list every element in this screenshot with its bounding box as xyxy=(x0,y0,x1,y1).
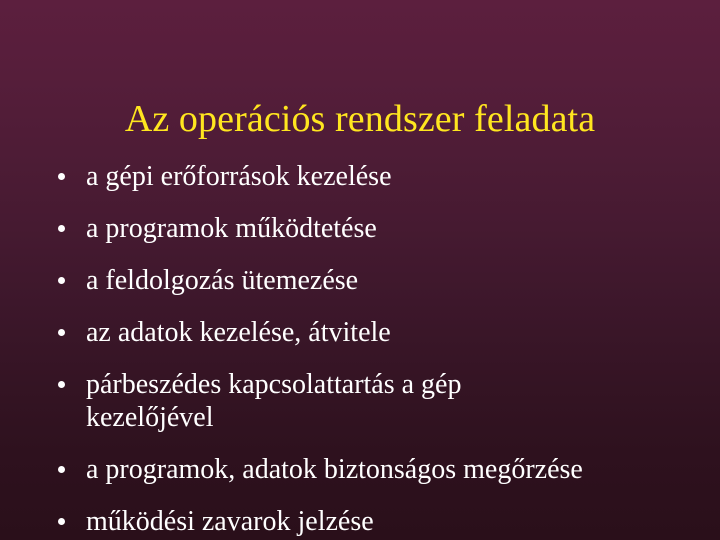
list-item: a gépi erőforrások kezelése xyxy=(0,160,720,193)
list-item-label: a feldolgozás ütemezése xyxy=(86,264,680,297)
presentation-slide: Az operációs rendszer feladata a gépi er… xyxy=(0,0,720,540)
bullet-dot-icon xyxy=(58,329,65,336)
list-item: az adatok kezelése, átvitele xyxy=(0,316,720,349)
bullet-dot-icon xyxy=(58,381,65,388)
list-item: a programok, adatok biztonságos megőrzés… xyxy=(0,453,720,486)
list-item: a feldolgozás ütemezése xyxy=(0,264,720,297)
page-title: Az operációs rendszer feladata xyxy=(0,97,720,141)
list-item-label: a gépi erőforrások kezelése xyxy=(86,160,680,193)
list-item-label: működési zavarok jelzése xyxy=(86,505,680,538)
bullet-list: a gépi erőforrások kezelése a programok … xyxy=(0,160,720,538)
bullet-dot-icon xyxy=(58,173,65,180)
list-item: a programok működtetése xyxy=(0,212,720,245)
bullet-dot-icon xyxy=(58,225,65,232)
list-item-label: az adatok kezelése, átvitele xyxy=(86,316,680,349)
list-item-label: párbeszédes kapcsolattartás a gép kezelő… xyxy=(86,368,535,434)
list-item: működési zavarok jelzése xyxy=(0,505,720,538)
bullet-dot-icon xyxy=(58,277,65,284)
list-item-label: a programok működtetése xyxy=(86,212,680,245)
list-item-label: a programok, adatok biztonságos megőrzés… xyxy=(86,453,700,486)
bullet-dot-icon xyxy=(58,518,65,525)
bullet-dot-icon xyxy=(58,466,65,473)
list-item: párbeszédes kapcsolattartás a gép kezelő… xyxy=(0,368,720,434)
